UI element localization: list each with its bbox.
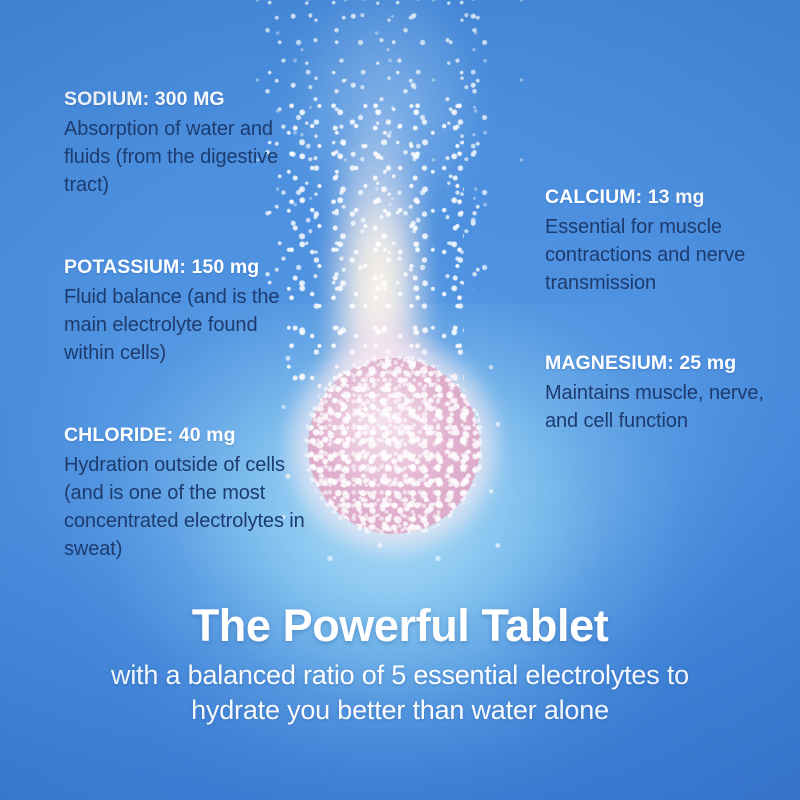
background-vignette (0, 0, 800, 800)
infographic-poster: SODIUM: 300 MG Absorption of water and f… (0, 0, 800, 800)
